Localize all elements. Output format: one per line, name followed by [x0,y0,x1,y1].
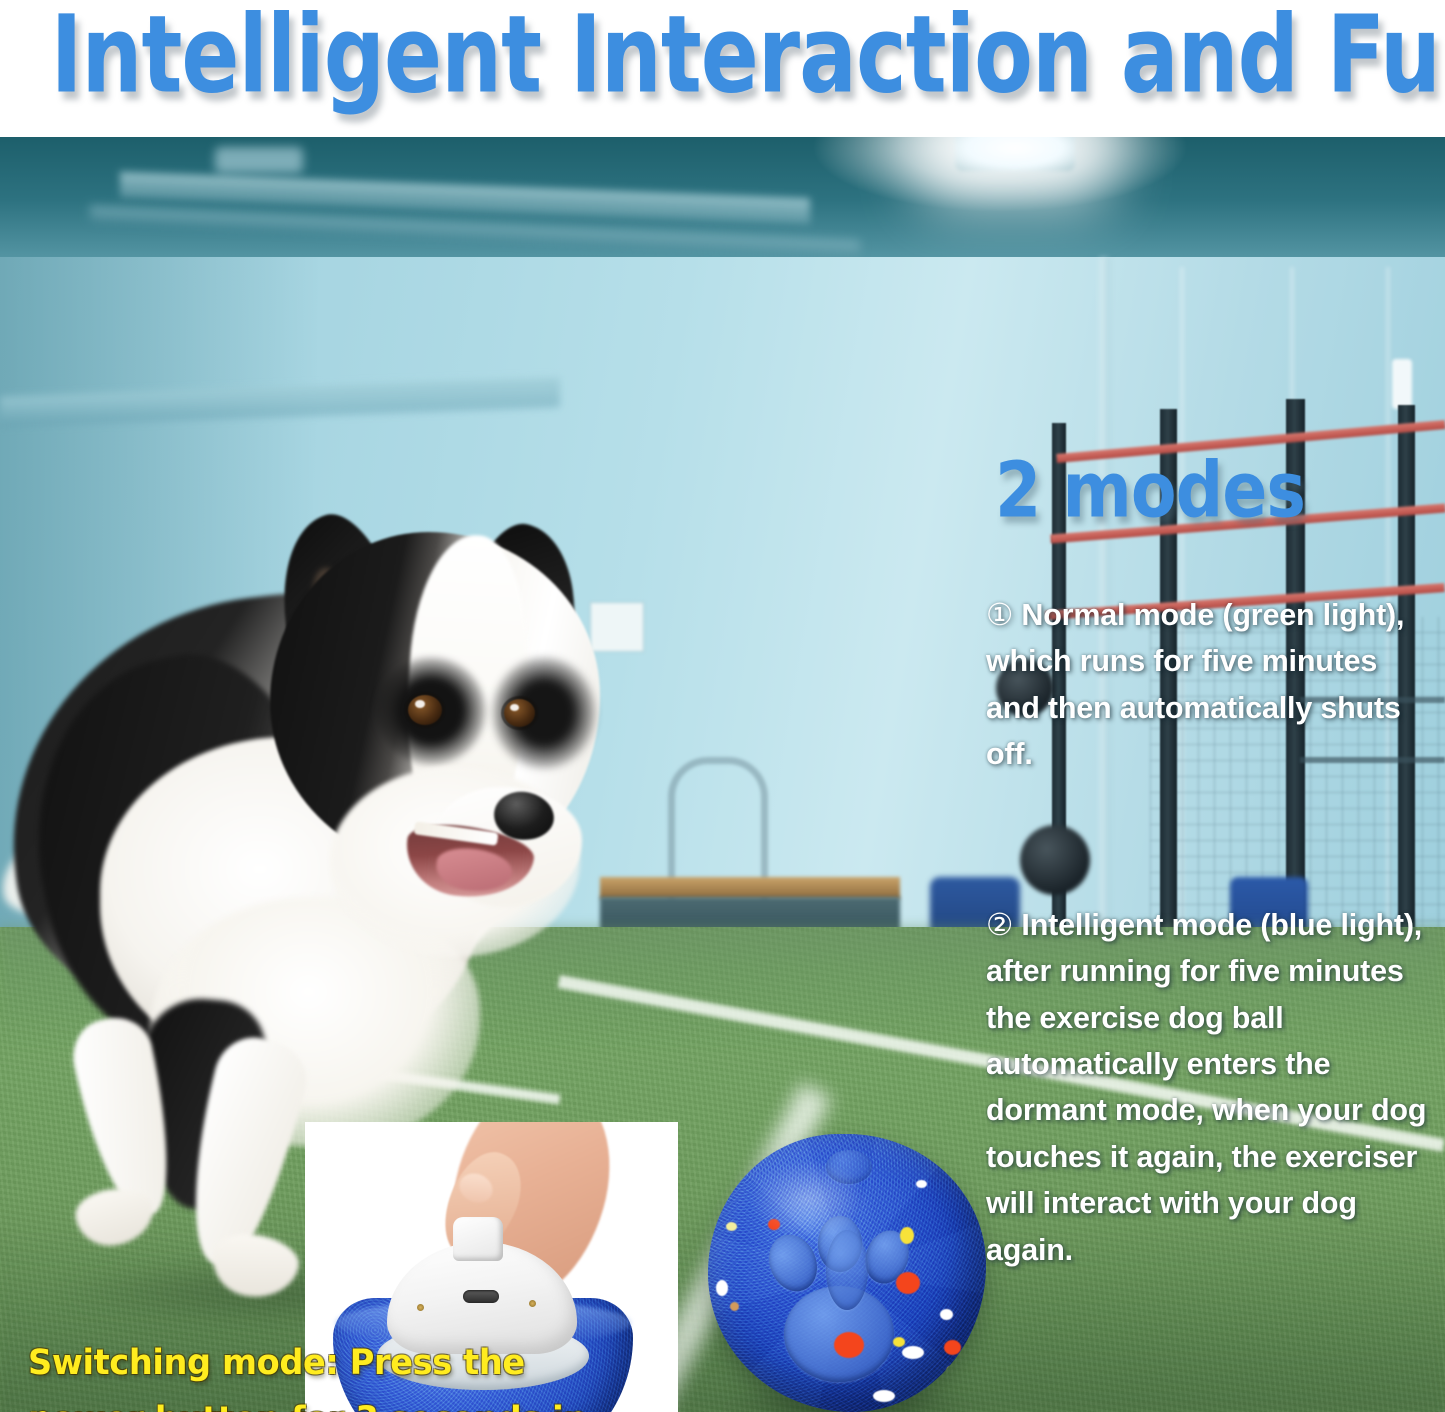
screw-icon [529,1300,536,1307]
ball-speckle-yellow [962,1366,970,1378]
mode-text-1: Normal mode (green light), which runs fo… [986,598,1404,771]
ceiling-light-secondary-icon [215,147,303,173]
wall-sign-secondary [1392,359,1412,409]
ball-speckle-white [902,1346,924,1359]
dog-eye-left [408,695,442,725]
mode-text-2: Intelligent mode (blue light), after run… [986,908,1426,1267]
usb-c-port-icon [463,1290,499,1303]
hero-photo: 2 modes ① Normal mode (green light), whi… [0,137,1445,1412]
ball-speckle-red [896,1272,920,1294]
ball-speckle-white [873,1390,895,1402]
title-banner: Intelligent Interaction and Fun [0,0,1445,137]
mode-item-intelligent: ② Intelligent mode (blue light), after r… [986,902,1431,1273]
ball-speckle-yellow [726,1222,737,1231]
wall-sign [590,602,644,652]
ball-speckle-red [834,1332,864,1358]
modes-heading: 2 modes [995,445,1305,535]
screw-icon [417,1304,424,1311]
ball-speckle-white [916,1180,927,1188]
mode-marker-1: ① [986,598,1021,632]
dog-eye-highlight [510,704,519,711]
gym-bench-top [600,877,900,899]
mode-marker-2: ② [986,908,1021,942]
ceiling-light-icon [955,137,1075,171]
ball-speckle-red [944,1340,961,1355]
ball-speckle-white [940,1309,953,1320]
ball-speckle-white [716,1280,728,1296]
product-ball [708,1134,986,1412]
ball-speckle-yellow [900,1227,914,1244]
ball-highlight [750,1160,866,1238]
page-title: Intelligent Interaction and Fun [51,0,1395,121]
ball-speckle-tan [730,1302,739,1311]
power-button[interactable] [453,1217,503,1261]
mode-item-normal: ① Normal mode (green light), which runs … [986,592,1431,777]
paw-print-toe [826,1230,868,1310]
dog-eye-right [504,699,535,727]
product-poster: Intelligent Interaction and Fun [0,0,1445,1412]
ball-speckle-yellow [946,1366,955,1379]
dog-eye-highlight [415,700,425,708]
ball-speckle-yellow [893,1337,905,1347]
weight-plate [1020,825,1090,895]
switching-mode-caption: Switching mode: Press the power button f… [28,1335,642,1412]
